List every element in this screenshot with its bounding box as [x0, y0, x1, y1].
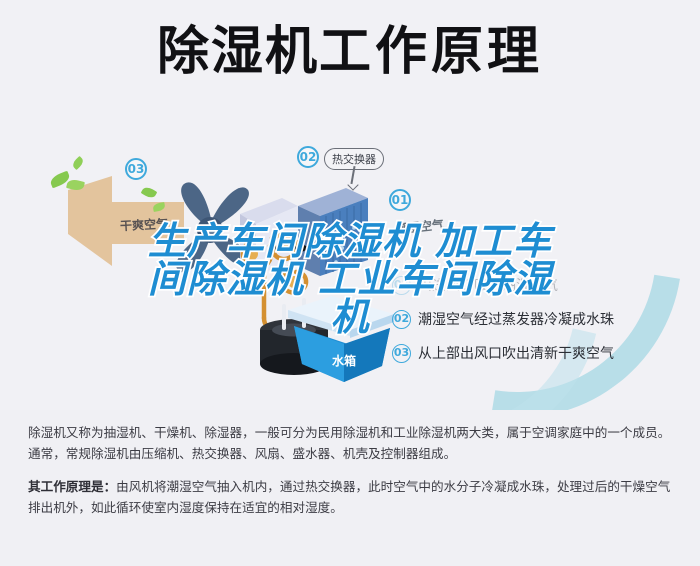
water-tank-label: 水箱 — [332, 352, 356, 369]
description-paragraph-1: 除湿机又称为抽湿机、干燥机、除湿器，一般可分为民用除湿机和工业除湿机两大类，属于… — [28, 422, 672, 464]
description-paragraph-2: 其工作原理是：由风机将潮湿空气抽入机内，通过热交换器，此时空气中的水分子冷凝成水… — [28, 476, 672, 518]
watermark-line-2: 间除湿机 工业车间除湿 — [0, 260, 700, 298]
watermark-line-1: 生产车间除湿机 加工车 — [0, 222, 700, 260]
description-section: 除湿机又称为抽湿机、干燥机、除湿器，一般可分为民用除湿机和工业除湿机两大类，属于… — [0, 410, 700, 566]
title-part-1: 除湿机 — [157, 22, 319, 82]
page-title: 除湿机工作原理 — [0, 26, 700, 78]
watermark-line-3: 机 — [0, 298, 700, 336]
heat-exchanger-marker: 02 — [297, 146, 319, 168]
legend-number: 03 — [392, 344, 411, 363]
working-principle-text: 由风机将潮湿空气抽入机内，通过热交换器，此时空气中的水分子冷凝成水珠，处理过后的… — [28, 479, 670, 515]
title-part-2: 工作原理 — [319, 22, 543, 82]
legend-item: 03 从上部出风口吹出清新干爽空气 — [392, 338, 614, 368]
humid-air-marker: 01 — [389, 189, 411, 211]
page-root: 除湿机工作原理 干爽空气 — [0, 0, 700, 566]
working-principle-label: 其工作原理是： — [28, 479, 116, 494]
legend-label: 从上部出风口吹出清新干爽空气 — [418, 343, 614, 363]
watermark-overlay: 生产车间除湿机 加工车 间除湿机 工业车间除湿 机 — [0, 222, 700, 336]
infographic-panel: 除湿机工作原理 干爽空气 — [0, 0, 700, 410]
dry-air-marker: 03 — [125, 158, 147, 180]
leaf-icon — [71, 156, 85, 170]
